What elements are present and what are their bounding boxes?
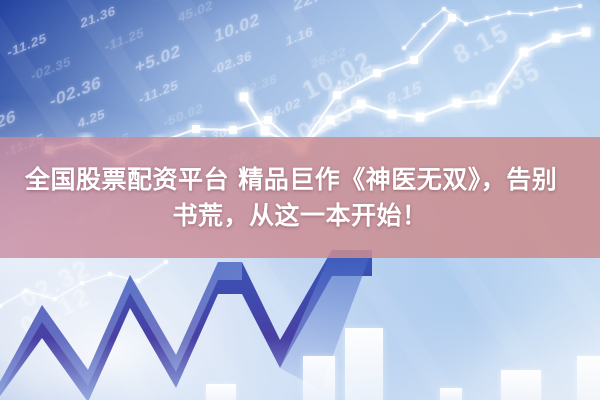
headline-line-1: 全国股票配资平台 精品巨作《神医无双》，告别 [25, 165, 557, 195]
headline-line-2: 书荒，从这一本开始！ [172, 201, 427, 231]
headline-text: 全国股票配资平台 精品巨作《神医无双》，告别 书荒，从这一本开始！ [0, 137, 600, 258]
promo-banner: -02.36-11.2521.3645.028.15-50.02-02.35-1… [0, 0, 600, 400]
